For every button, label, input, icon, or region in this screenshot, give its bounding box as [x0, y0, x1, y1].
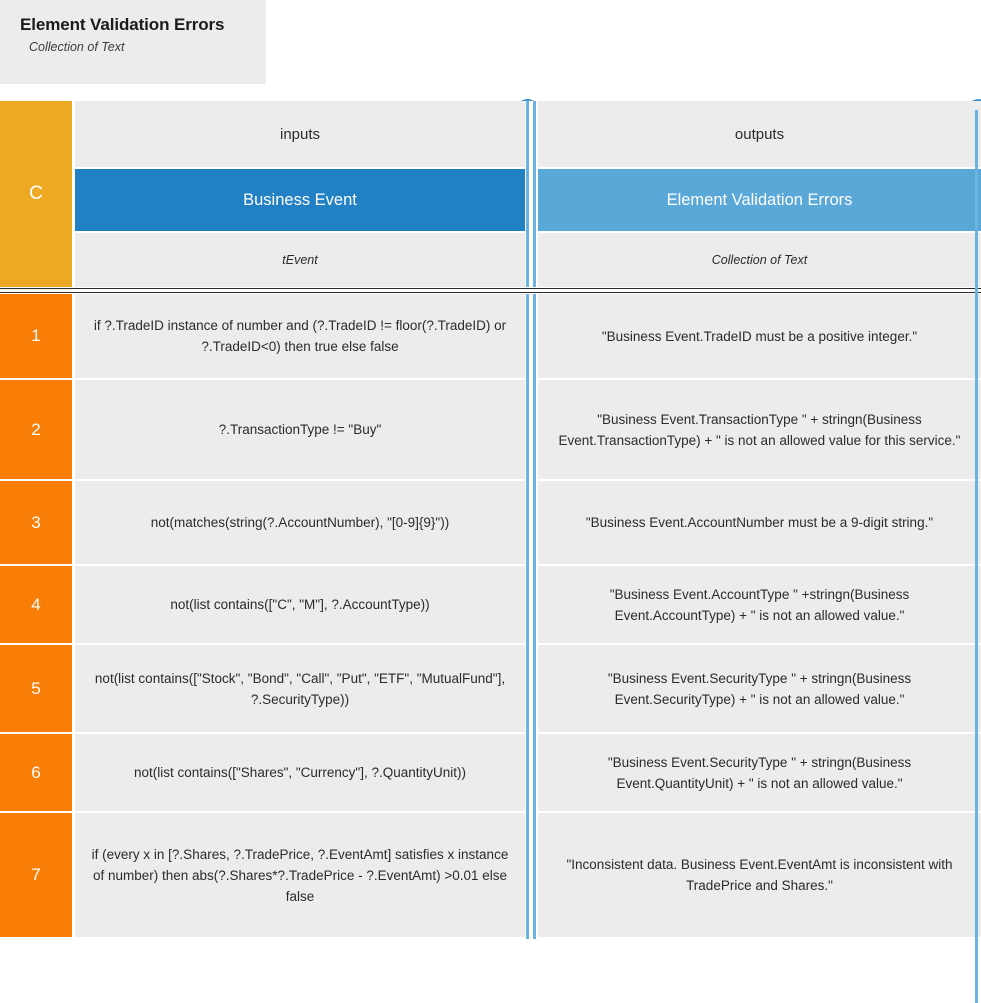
output-entry-cell[interactable]: "Business Event.SecurityType " + stringn…	[538, 734, 981, 813]
header-group-outputs[interactable]: outputs	[538, 101, 981, 169]
divider-line-right	[533, 481, 536, 566]
input-entry-cell[interactable]: ?.TransactionType != "Buy"	[75, 380, 525, 481]
output-entry-cell[interactable]: "Business Event.AccountNumber must be a …	[538, 481, 981, 566]
divider-line-right	[533, 294, 536, 380]
column-divider[interactable]	[525, 481, 538, 566]
row-number-label: 3	[31, 513, 40, 533]
table-row[interactable]: 7if (every x in [?.Shares, ?.TradePrice,…	[0, 813, 981, 939]
input-entry-cell[interactable]: if (every x in [?.Shares, ?.TradePrice, …	[75, 813, 525, 939]
decision-table-title-card[interactable]: Element Validation Errors Collection of …	[0, 0, 266, 84]
column-header-business-event[interactable]: Business Event	[75, 169, 525, 233]
column-divider[interactable]	[525, 645, 538, 734]
divider-line-left	[526, 813, 529, 939]
divider-line-left	[526, 169, 529, 233]
separator-line-bottom	[0, 292, 981, 293]
divider-line-left	[526, 294, 529, 380]
row-number-cell[interactable]: 5	[0, 645, 72, 734]
row-number-label: 5	[31, 679, 40, 699]
column-header-element-validation-errors[interactable]: Element Validation Errors	[538, 169, 981, 233]
row-number-cell[interactable]: 2	[0, 380, 72, 481]
table-row[interactable]: 1if ?.TradeID instance of number and (?.…	[0, 294, 981, 380]
hit-policy-cell[interactable]: C	[0, 101, 72, 287]
table-row[interactable]: 5not(list contains(["Stock", "Bond", "Ca…	[0, 645, 981, 734]
column-divider[interactable]	[525, 813, 538, 939]
row-number-cell[interactable]: 1	[0, 294, 72, 380]
column-divider[interactable]	[525, 294, 538, 380]
table-body: 1if ?.TradeID instance of number and (?.…	[0, 294, 981, 939]
divider-line-right	[533, 169, 536, 233]
input-entry-cell[interactable]: not(matches(string(?.AccountNumber), "[0…	[75, 481, 525, 566]
input-entry-cell[interactable]: not(list contains(["Shares", "Currency"]…	[75, 734, 525, 813]
divider-line-right	[533, 566, 536, 645]
output-entry-cell[interactable]: "Business Event.SecurityType " + stringn…	[538, 645, 981, 734]
hit-policy-label: C	[29, 183, 43, 205]
column-divider[interactable]	[525, 566, 538, 645]
table-row[interactable]: 4not(list contains(["C", "M"], ?.Account…	[0, 566, 981, 645]
decision-table-page: Element Validation Errors Collection of …	[0, 0, 981, 1003]
divider-line-left	[526, 380, 529, 481]
table-row[interactable]: 2?.TransactionType != "Buy""Business Eve…	[0, 380, 981, 481]
header-separator	[0, 287, 981, 294]
table-row[interactable]: 6not(list contains(["Shares", "Currency"…	[0, 734, 981, 813]
header-columns: inputs outputs Business Event Element Va…	[75, 101, 981, 287]
column-divider[interactable]	[525, 101, 538, 169]
row-number-label: 6	[31, 763, 40, 783]
header-group-inputs[interactable]: inputs	[75, 101, 525, 169]
output-entry-cell[interactable]: "Inconsistent data. Business Event.Event…	[538, 813, 981, 939]
row-number-label: 4	[31, 595, 40, 615]
row-number-cell[interactable]: 7	[0, 813, 72, 939]
table-right-edge-line	[975, 110, 978, 1003]
divider-line-left	[526, 645, 529, 734]
column-type-element-validation-errors: Collection of Text	[538, 233, 981, 287]
row-number-label: 7	[31, 865, 40, 885]
divider-line-left	[526, 734, 529, 813]
table-header: C inputs outputs Business Event	[0, 101, 981, 287]
row-number-label: 1	[31, 326, 40, 346]
row-number-label: 2	[31, 420, 40, 440]
divider-line-left	[526, 566, 529, 645]
decision-table-grid: C inputs outputs Business Event	[0, 101, 981, 939]
divider-line-right	[533, 233, 536, 287]
output-entry-cell[interactable]: "Business Event.TradeID must be a positi…	[538, 294, 981, 380]
divider-line-right	[533, 734, 536, 813]
input-entry-cell[interactable]: not(list contains(["C", "M"], ?.AccountT…	[75, 566, 525, 645]
column-divider[interactable]	[525, 169, 538, 233]
row-number-cell[interactable]: 3	[0, 481, 72, 566]
header-name-row: Business Event Element Validation Errors	[75, 169, 981, 233]
column-divider[interactable]	[525, 233, 538, 287]
divider-line-right	[533, 101, 536, 169]
page-title: Element Validation Errors	[20, 14, 266, 36]
column-type-business-event: tEvent	[75, 233, 525, 287]
header-type-row: tEvent Collection of Text	[75, 233, 981, 287]
column-divider[interactable]	[525, 734, 538, 813]
divider-line-left	[526, 233, 529, 287]
column-divider[interactable]	[525, 380, 538, 481]
divider-line-left	[526, 481, 529, 566]
row-number-cell[interactable]: 6	[0, 734, 72, 813]
divider-line-right	[533, 813, 536, 939]
header-group-row: inputs outputs	[75, 101, 981, 169]
input-entry-cell[interactable]: not(list contains(["Stock", "Bond", "Cal…	[75, 645, 525, 734]
output-entry-cell[interactable]: "Business Event.AccountType " +stringn(B…	[538, 566, 981, 645]
table-row[interactable]: 3not(matches(string(?.AccountNumber), "[…	[0, 481, 981, 566]
divider-line-left	[526, 101, 529, 169]
row-number-cell[interactable]: 4	[0, 566, 72, 645]
decision-table-type: Collection of Text	[20, 38, 266, 56]
divider-line-right	[533, 380, 536, 481]
input-entry-cell[interactable]: if ?.TradeID instance of number and (?.T…	[75, 294, 525, 380]
divider-line-right	[533, 645, 536, 734]
output-entry-cell[interactable]: "Business Event.TransactionType " + stri…	[538, 380, 981, 481]
separator-line-top	[0, 288, 981, 289]
